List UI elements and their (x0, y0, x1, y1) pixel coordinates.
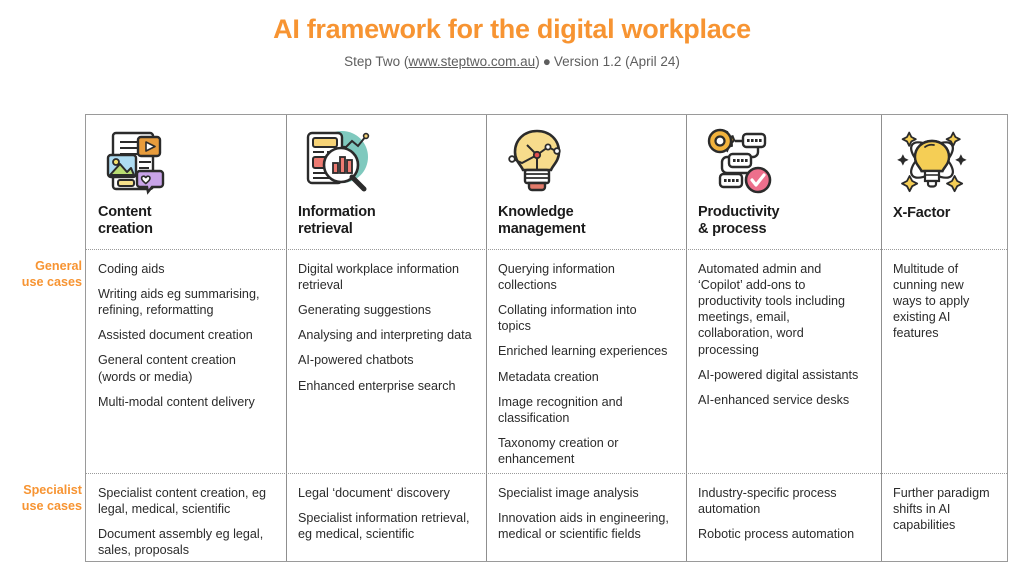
document-media-icon (98, 123, 272, 202)
use-case-list: Specialist image analysis Innovation aid… (498, 485, 672, 542)
row-divider-1 (86, 249, 1007, 250)
magnifier-chart-icon (298, 123, 472, 202)
list-item: Analysing and interpreting data (298, 327, 472, 343)
list-item: Multi-modal content delivery (98, 394, 272, 410)
list-item: General content creation (words or media… (98, 352, 272, 384)
list-item: Specialist image analysis (498, 485, 672, 501)
general-cell-productivity-process: Automated admin and ‘Copilot’ add-ons to… (686, 249, 881, 473)
general-cell-x-factor: Multitude of cunning new ways to apply e… (881, 249, 1007, 473)
use-case-list: Digital workplace information retrieval … (298, 261, 472, 394)
list-item: Image recognition and classification (498, 394, 672, 426)
list-item: Querying information collections (498, 261, 672, 293)
list-item: Writing aids eg summarising, refining, r… (98, 286, 272, 318)
framework-table: Content creation (85, 114, 1008, 562)
lightbulb-network-icon (498, 123, 672, 202)
use-case-list: Multitude of cunning new ways to apply e… (893, 261, 993, 342)
list-item: AI-enhanced service desks (698, 392, 867, 408)
list-item: Specialist content creation, eg legal, m… (98, 485, 272, 517)
column-header-x-factor: X-Factor (881, 115, 1007, 249)
use-case-list: Further paradigm shifts in AI capabiliti… (893, 485, 993, 533)
list-item: Taxonomy creation or enhancement (498, 435, 672, 467)
use-case-list: Specialist content creation, eg legal, m… (98, 485, 272, 558)
list-item: Digital workplace information retrieval (298, 261, 472, 293)
list-item: Automated admin and ‘Copilot’ add-ons to… (698, 261, 867, 358)
list-item: Specialist information retrieval, eg med… (298, 510, 472, 542)
list-item: AI-powered digital assistants (698, 367, 867, 383)
page-header: AI framework for the digital workplace S… (0, 14, 1024, 70)
list-item: Coding aids (98, 261, 272, 277)
use-case-list: Legal ‘document‘ discovery Specialist in… (298, 485, 472, 542)
column-header-knowledge-management: Knowledge management (486, 115, 686, 249)
specialist-cell-x-factor: Further paradigm shifts in AI capabiliti… (881, 473, 1007, 561)
column-header-information-retrieval: Information retrieval (286, 115, 486, 249)
list-item: Enriched learning experiences (498, 343, 672, 359)
general-cell-content-creation: Coding aids Writing aids eg summarising,… (86, 249, 286, 473)
framework-page: AI framework for the digital workplace S… (0, 0, 1024, 576)
use-case-list: Industry-specific process automation Rob… (698, 485, 867, 542)
source-link[interactable]: www.steptwo.com.au (408, 54, 535, 69)
general-cell-knowledge-management: Querying information collections Collati… (486, 249, 686, 473)
column-title: X-Factor (893, 205, 993, 223)
list-item: Innovation aids in engineering, medical … (498, 510, 672, 542)
list-item: Multitude of cunning new ways to apply e… (893, 261, 993, 342)
page-subtitle: Step Two (www.steptwo.com.au)●Version 1.… (0, 54, 1024, 70)
list-item: Further paradigm shifts in AI capabiliti… (893, 485, 993, 533)
source-label: Step Two ( (344, 54, 408, 69)
column-title: Knowledge management (498, 204, 672, 239)
list-item: AI-powered chatbots (298, 352, 472, 368)
column-title: Productivity & process (698, 204, 867, 239)
list-item: Assisted document creation (98, 327, 272, 343)
column-header-productivity-process: Productivity & process (686, 115, 881, 249)
list-item: Document assembly eg legal, sales, propo… (98, 526, 272, 558)
list-item: Industry-specific process automation (698, 485, 867, 517)
list-item: Enhanced enterprise search (298, 378, 472, 394)
column-title: Content creation (98, 204, 272, 239)
use-case-list: Querying information collections Collati… (498, 261, 672, 467)
specialist-cell-productivity-process: Industry-specific process automation Rob… (686, 473, 881, 561)
separator-dot: ● (540, 54, 554, 69)
specialist-cell-content-creation: Specialist content creation, eg legal, m… (86, 473, 286, 561)
column-header-content-creation: Content creation (86, 115, 286, 249)
list-item: Legal ‘document‘ discovery (298, 485, 472, 501)
row-label-specialist: Specialist use cases (0, 482, 82, 514)
version-label: Version 1.2 (April 24) (554, 54, 680, 69)
list-item: Collating information into topics (498, 302, 672, 334)
framework-grid: Content creation (86, 115, 1007, 561)
use-case-list: Coding aids Writing aids eg summarising,… (98, 261, 272, 410)
page-title: AI framework for the digital workplace (0, 14, 1024, 45)
general-cell-information-retrieval: Digital workplace information retrieval … (286, 249, 486, 473)
list-item: Generating suggestions (298, 302, 472, 318)
specialist-cell-information-retrieval: Legal ‘document‘ discovery Specialist in… (286, 473, 486, 561)
specialist-cell-knowledge-management: Specialist image analysis Innovation aid… (486, 473, 686, 561)
column-title: Information retrieval (298, 204, 472, 239)
row-divider-2 (86, 473, 1007, 474)
source-label-end: ) (535, 54, 540, 69)
use-case-list: Automated admin and ‘Copilot’ add-ons to… (698, 261, 867, 408)
lightbulb-atom-sparkle-icon (893, 123, 993, 203)
list-item: Robotic process automation (698, 526, 867, 542)
list-item: Metadata creation (498, 369, 672, 385)
row-label-general: General use cases (0, 258, 82, 290)
gear-workflow-icon (698, 123, 867, 202)
